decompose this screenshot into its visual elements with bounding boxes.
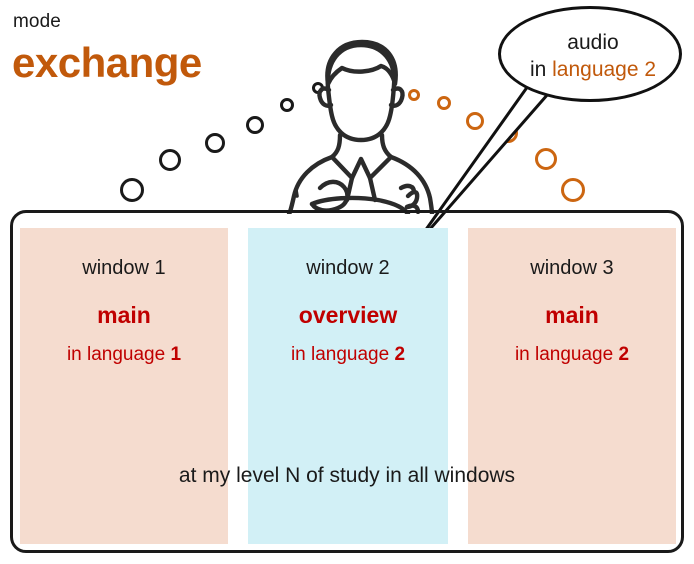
window-panel-1-mode: main [20, 302, 228, 330]
person-icon [268, 28, 454, 214]
window-panel-2-title: window 2 [248, 256, 448, 280]
balloon-line-1: audio [567, 31, 618, 56]
balloon-line-2-prefix: in [530, 58, 552, 81]
window-panel-3-language-prefix: in language [515, 344, 619, 365]
window-panel-1-language: in language 1 [20, 344, 228, 367]
window-panel-2-content: window 2 overview in language 2 [248, 256, 448, 366]
window-panel-3-content: window 3 main in language 2 [468, 256, 676, 366]
thought-dot-black-4 [246, 116, 264, 134]
window-panel-3-language: in language 2 [468, 344, 676, 367]
speech-balloon-text: audio in language 2 [501, 9, 685, 105]
mode-label: mode [13, 11, 61, 33]
thought-dot-black-2 [159, 149, 181, 171]
mode-title: exchange [12, 39, 202, 87]
window-panel-1-language-prefix: in language [67, 344, 171, 365]
window-panel-1-content: window 1 main in language 1 [20, 256, 228, 366]
window-panels: window 1 main in language 1 window 2 ove… [20, 228, 676, 544]
window-panel-2-language-number: 2 [394, 344, 405, 365]
window-panel-1-title: window 1 [20, 256, 228, 280]
thought-dot-black-1 [120, 178, 144, 202]
window-panel-2-mode: overview [248, 302, 448, 330]
balloon-line-2: in language 2 [530, 58, 656, 83]
window-panel-2-language-prefix: in language [291, 344, 395, 365]
window-panel-1[interactable]: window 1 main in language 1 [20, 228, 228, 544]
thought-dot-orange-3 [466, 112, 484, 130]
window-panel-1-language-number: 1 [170, 344, 181, 365]
diagram-canvas: mode exchange [0, 0, 694, 564]
window-panel-3-title: window 3 [468, 256, 676, 280]
balloon-line-2-accent: language 2 [552, 58, 656, 81]
thought-dot-orange-5 [535, 148, 557, 170]
window-panel-2[interactable]: window 2 overview in language 2 [248, 228, 448, 544]
thought-dot-black-3 [205, 133, 225, 153]
footer-note: at my level N of study in all windows [10, 464, 684, 488]
window-panel-3[interactable]: window 3 main in language 2 [468, 228, 676, 544]
speech-balloon: audio in language 2 [498, 6, 682, 102]
window-panel-3-language-number: 2 [618, 344, 629, 365]
thought-dot-orange-4 [498, 123, 518, 143]
window-panel-2-language: in language 2 [248, 344, 448, 367]
window-panel-3-mode: main [468, 302, 676, 330]
thought-dot-orange-6 [561, 178, 585, 202]
